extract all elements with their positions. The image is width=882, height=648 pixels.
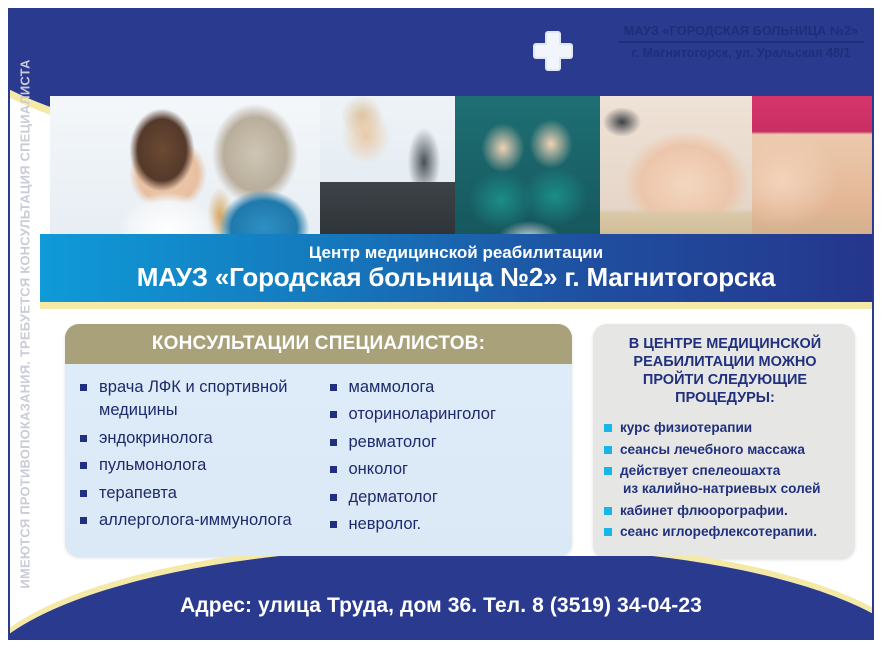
consultations-panel: КОНСУЛЬТАЦИИ СПЕЦИАЛИСТОВ: врача ЛФК и с… (65, 324, 572, 557)
list-item-label: врача ЛФК и спортивной медицины (99, 378, 288, 419)
consultations-heading: КОНСУЛЬТАЦИИ СПЕЦИАЛИСТОВ: (65, 324, 572, 364)
photo-surgery-team (455, 96, 600, 234)
list-item-label: аллерголога-иммунолога (99, 511, 292, 529)
square-bullet-icon (330, 411, 337, 418)
list-item-label: действует спелеошахта (620, 463, 780, 478)
square-bullet-icon (80, 490, 87, 497)
list-item: невролог. (329, 513, 567, 536)
logo-hospital-address: г. Магнитогорск, ул. Уральская 48/1 (618, 46, 864, 60)
title-bar: Центр медицинской реабилитации МАУЗ «Гор… (40, 234, 872, 302)
procedures-heading: В ЦЕНТРЕ МЕДИЦИНСКОЙ РЕАБИЛИТАЦИИ МОЖНО … (603, 336, 847, 408)
list-item-continuation: из калийно-натриевых солей (620, 480, 847, 498)
square-bullet-icon (330, 494, 337, 501)
list-item-label: дерматолог (349, 488, 438, 506)
square-bullet-icon (330, 466, 337, 473)
list-item-label: маммолога (349, 378, 435, 396)
list-item-label: пульмонолога (99, 456, 206, 474)
medical-center-poster: МАУЗ «ГОРОДСКАЯ БОЛЬНИЦА №2» г. Магнитог… (0, 0, 882, 648)
list-item-label: оториноларинголог (349, 405, 496, 423)
square-bullet-icon (80, 384, 87, 391)
title-subtitle: Центр медицинской реабилитации (309, 244, 603, 262)
list-item-label: онколог (349, 460, 409, 478)
list-item: аллерголога-иммунолога (79, 509, 317, 532)
list-item: терапевта (79, 482, 317, 505)
photo-ultrasound-probe (600, 96, 752, 234)
list-item: дерматолог (329, 486, 567, 509)
square-bullet-icon (80, 517, 87, 524)
list-item-label: сеанс иглорефлексотерапии. (620, 524, 817, 539)
list-item-label: невролог. (349, 515, 422, 533)
square-bullet-icon (330, 384, 337, 391)
list-item: оториноларинголог (329, 403, 567, 426)
list-item: эндокринолога (79, 427, 317, 450)
photo-strip (50, 96, 872, 234)
consultations-body: врача ЛФК и спортивной медицины эндокрин… (65, 364, 572, 557)
square-bullet-icon (330, 521, 337, 528)
consultations-right-column: маммолога оториноларинголог ревматолог о… (317, 376, 567, 541)
hospital-logo: МАУЗ «ГОРОДСКАЯ БОЛЬНИЦА №2» г. Магнитог… (490, 20, 860, 82)
list-item-label: терапевта (99, 484, 177, 502)
logo-hospital-name: МАУЗ «ГОРОДСКАЯ БОЛЬНИЦА №2» (618, 24, 864, 38)
footer-band: Адрес: улица Труда, дом 36. Тел. 8 (3519… (10, 556, 872, 638)
list-item: кабинет флюорографии. (603, 502, 847, 520)
consultations-left-column: врача ЛФК и спортивной медицины эндокрин… (79, 376, 317, 541)
list-item-label: ревматолог (349, 433, 437, 451)
list-item: сеансы лечебного массажа (603, 441, 847, 459)
photo-pregnant-woman (752, 96, 872, 234)
square-bullet-icon (604, 528, 612, 536)
list-item-label: кабинет флюорографии. (620, 503, 788, 518)
footer-address: Адрес: улица Труда, дом 36. Тел. 8 (3519… (10, 594, 872, 618)
list-item: курс физиотерапии (603, 419, 847, 437)
disclaimer-strip: ИМЕЮТСЯ ПРОТИВОПОКАЗАНИЯ. ТРЕБУЕТСЯ КОНС… (10, 10, 40, 638)
list-item: сеанс иглорефлексотерапии. (603, 523, 847, 541)
logo-divider (618, 41, 864, 43)
square-bullet-icon (330, 439, 337, 446)
logo-text-block: МАУЗ «ГОРОДСКАЯ БОЛЬНИЦА №2» г. Магнитог… (618, 24, 864, 60)
disclaimer-text: ИМЕЮТСЯ ПРОТИВОПОКАЗАНИЯ. ТРЕБУЕТСЯ КОНС… (18, 59, 33, 588)
photo-doctor-with-elderly-patient (50, 96, 320, 234)
list-item-label: сеансы лечебного массажа (620, 442, 805, 457)
square-bullet-icon (604, 424, 612, 432)
square-bullet-icon (80, 435, 87, 442)
list-item: ревматолог (329, 431, 567, 454)
medical-cross-icon (490, 20, 618, 82)
content-area: КОНСУЛЬТАЦИИ СПЕЦИАЛИСТОВ: врача ЛФК и с… (40, 316, 872, 564)
procedures-list: курс физиотерапии сеансы лечебного масса… (603, 419, 847, 541)
list-item-label: эндокринолога (99, 429, 213, 447)
square-bullet-icon (80, 462, 87, 469)
list-item: действует спелеошахтаиз калийно-натриевы… (603, 462, 847, 497)
title-cream-underline (40, 302, 872, 309)
photo-lab-technician-microscope (320, 96, 455, 234)
title-main: МАУЗ «Городская больница №2» г. Магнитог… (137, 264, 776, 291)
list-item-label: курс физиотерапии (620, 420, 752, 435)
list-item: онколог (329, 458, 567, 481)
square-bullet-icon (604, 446, 612, 454)
list-item: маммолога (329, 376, 567, 399)
list-item: пульмонолога (79, 454, 317, 477)
square-bullet-icon (604, 507, 612, 515)
list-item: врача ЛФК и спортивной медицины (79, 376, 317, 423)
procedures-panel: В ЦЕНТРЕ МЕДИЦИНСКОЙ РЕАБИЛИТАЦИИ МОЖНО … (593, 324, 855, 559)
square-bullet-icon (604, 467, 612, 475)
